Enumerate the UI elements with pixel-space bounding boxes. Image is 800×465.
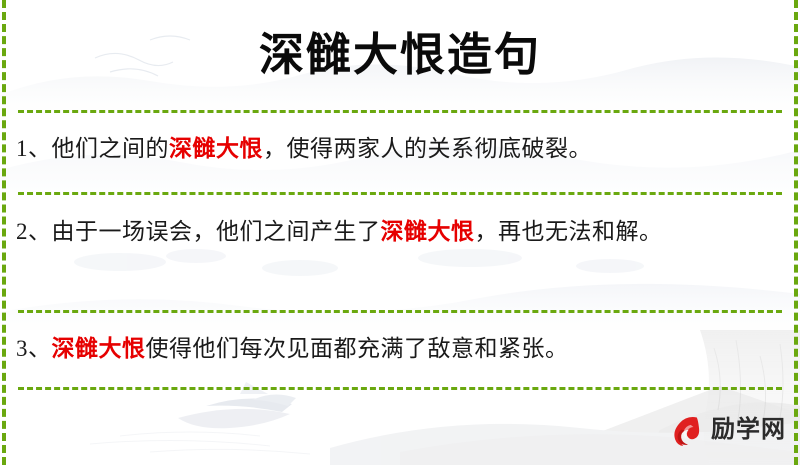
divider-rule-3	[18, 310, 782, 313]
sentence-1-text-before: 他们之间的	[52, 136, 170, 161]
example-sentence-1: 1、他们之间的深雠大恨，使得两家人的关系彻底破裂。	[16, 128, 778, 170]
sentence-1-number: 1、	[16, 136, 52, 161]
frame-left-dashed-border	[2, 0, 6, 465]
site-logo[interactable]: 励学网	[671, 412, 786, 446]
sentence-3-text-after: 使得他们每次见面都充满了敌意和紧张。	[146, 336, 569, 361]
divider-rule-4	[18, 387, 782, 390]
frame-right-dashed-border	[794, 0, 798, 465]
page-root: 深雠大恨造句 1、他们之间的深雠大恨，使得两家人的关系彻底破裂。 2、由于一场误…	[0, 0, 800, 465]
sentence-1-text-after: ，使得两家人的关系彻底破裂。	[263, 136, 592, 161]
divider-rule-2	[18, 192, 782, 195]
flame-swirl-icon	[671, 412, 705, 446]
site-logo-text: 励学网	[711, 417, 786, 441]
sentence-3-keyword: 深雠大恨	[52, 336, 146, 361]
page-title: 深雠大恨造句	[0, 18, 800, 83]
content-area: 深雠大恨造句 1、他们之间的深雠大恨，使得两家人的关系彻底破裂。 2、由于一场误…	[0, 0, 800, 465]
sentence-3-number: 3、	[16, 336, 52, 361]
sentence-2-keyword: 深雠大恨	[381, 219, 475, 244]
example-sentence-3: 3、深雠大恨使得他们每次见面都充满了敌意和紧张。	[16, 328, 778, 370]
sentence-2-text-before: 由于一场误会，他们之间产生了	[52, 219, 381, 244]
example-sentence-2: 2、由于一场误会，他们之间产生了深雠大恨，再也无法和解。	[16, 211, 778, 253]
divider-rule-1	[18, 110, 782, 113]
sentence-2-number: 2、	[16, 219, 52, 244]
sentence-1-keyword: 深雠大恨	[169, 136, 263, 161]
sentence-2-text-after: ，再也无法和解。	[475, 219, 663, 244]
